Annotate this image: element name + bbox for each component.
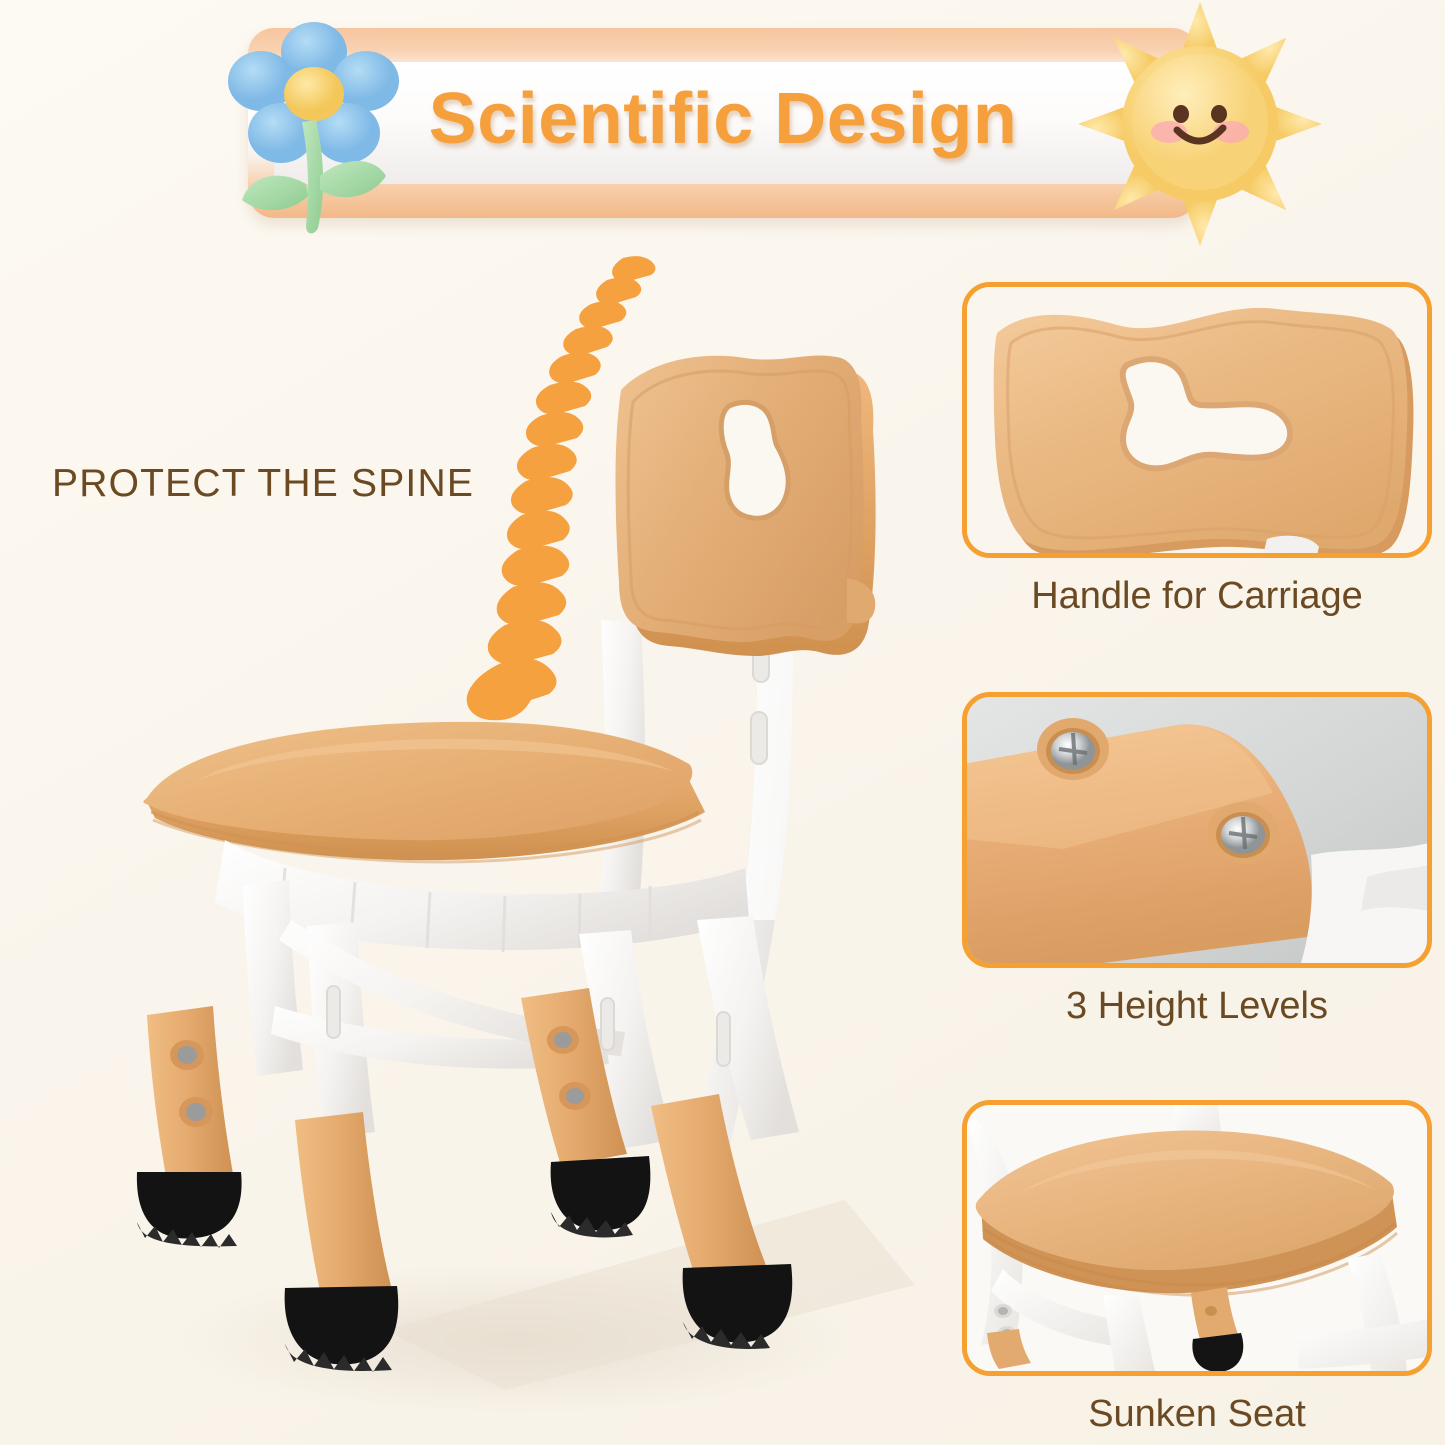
feature-panel-handle-for-carriage: Handle for Carriage bbox=[962, 282, 1432, 618]
panel-caption-three-height-levels: 3 Height Levels bbox=[962, 985, 1432, 1028]
sunken-seat-photo bbox=[962, 1100, 1432, 1376]
flower-icon bbox=[220, 16, 410, 246]
sun-icon bbox=[1073, 0, 1328, 251]
kids-chair-icon bbox=[85, 320, 945, 1430]
banner: Scientific Design bbox=[248, 28, 1198, 218]
panel-caption-sunken-seat: Sunken Seat bbox=[962, 1393, 1432, 1436]
feature-panel-sunken-seat: Sunken Seat bbox=[962, 1100, 1432, 1436]
leg-adjustment-screws-photo bbox=[962, 692, 1432, 968]
panel-caption-handle-for-carriage: Handle for Carriage bbox=[962, 575, 1432, 618]
feature-panel-three-height-levels: 3 Height Levels bbox=[962, 692, 1432, 1028]
infographic-page: Scientific Design bbox=[0, 0, 1445, 1445]
chair-backrest-handle-photo bbox=[962, 282, 1432, 558]
